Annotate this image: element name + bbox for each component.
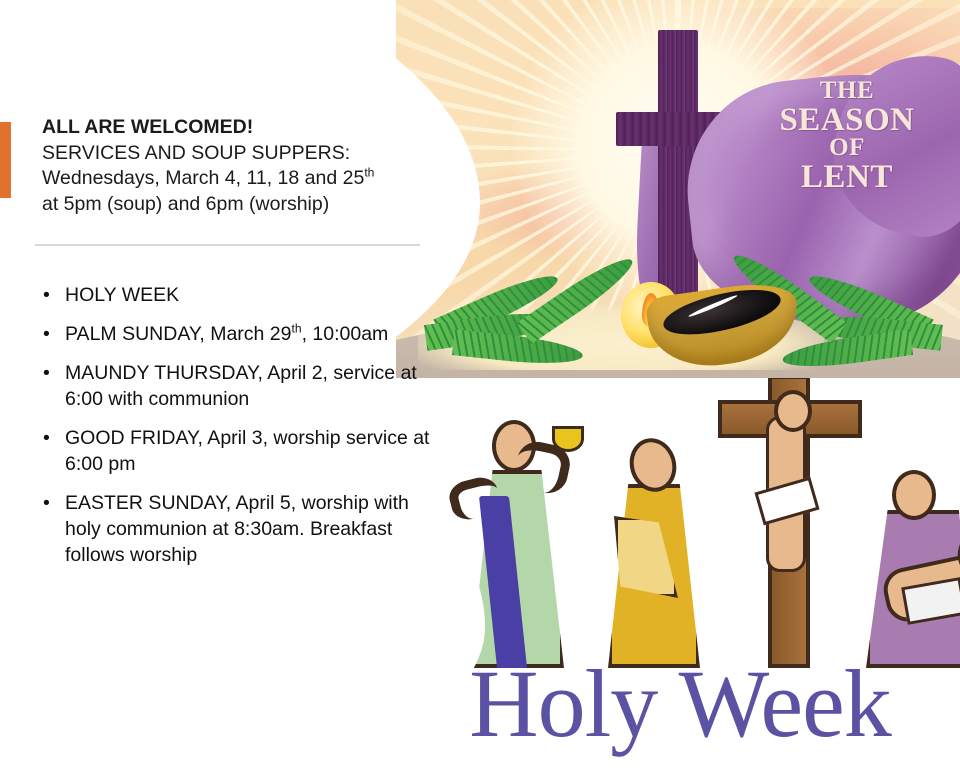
list-item-label: MAUNDY THURSDAY, April 2, service at 6:0… [65, 362, 417, 410]
bullet-marker: • [43, 282, 50, 308]
pieta-mourner-head [892, 470, 936, 520]
bowl-highlight [689, 294, 738, 319]
intro-line-services: SERVICES AND SOUP SUPPERS: [42, 141, 434, 167]
figure-pieta [852, 458, 960, 668]
text-panel: ALL ARE WELCOMED! SERVICES AND SOUP SUPP… [0, 0, 450, 768]
orange-accent-bar [0, 122, 11, 198]
lent-title-line-4: LENT [745, 161, 948, 193]
lent-title-line-1: THE [745, 79, 948, 104]
slide-root: THE SEASON OF LENT [0, 0, 960, 768]
intro-heading: ALL ARE WELCOMED! [42, 115, 434, 141]
intro-line-dates: Wednesdays, March 4, 11, 18 and 25th [42, 166, 434, 192]
palm-frond-icon [452, 329, 584, 368]
figure-praying [600, 443, 710, 668]
holy-week-image: Holy Week [400, 378, 960, 768]
figure-crucifix [718, 383, 854, 668]
bullet-marker: • [43, 321, 50, 347]
palm-sunday-prefix: PALM SUNDAY, March 29 [65, 323, 292, 345]
palm-sunday-ordinal: th [292, 322, 302, 336]
list-item-label: EASTER SUNDAY, April 5, worship with hol… [65, 492, 409, 566]
lent-title: THE SEASON OF LENT [745, 79, 948, 193]
lent-image: THE SEASON OF LENT [395, 0, 960, 378]
lent-title-line-3: OF [745, 136, 948, 161]
list-item-label: HOLY WEEK [65, 284, 179, 306]
intro-block: ALL ARE WELCOMED! SERVICES AND SOUP SUPP… [42, 115, 434, 217]
lent-title-line-2: SEASON [745, 104, 948, 136]
list-item: • EASTER SUNDAY, April 5, worship with h… [35, 490, 435, 568]
bullet-marker: • [43, 425, 50, 451]
schedule-list: • HOLY WEEK • PALM SUNDAY, March 29th, 1… [35, 282, 435, 581]
list-item-label: PALM SUNDAY, March 29th, 10:00am [65, 323, 388, 345]
holy-week-title: Holy Week [400, 656, 960, 752]
intro-line-times: at 5pm (soup) and 6pm (worship) [42, 192, 434, 218]
intro-dates-text: Wednesdays, March 4, 11, 18 and 25 [42, 167, 364, 189]
intro-dates-ordinal: th [364, 166, 374, 180]
palm-sunday-suffix: , 10:00am [302, 323, 389, 345]
list-item: • PALM SUNDAY, March 29th, 10:00am [35, 321, 435, 347]
list-item: • GOOD FRIDAY, April 3, worship service … [35, 425, 435, 477]
section-divider [35, 244, 420, 246]
bullet-marker: • [43, 360, 50, 386]
chalice-icon [552, 426, 584, 452]
christ-head [774, 390, 812, 432]
list-item: • HOLY WEEK [35, 282, 435, 308]
bullet-marker: • [43, 490, 50, 516]
list-item-label: GOOD FRIDAY, April 3, worship service at… [65, 427, 429, 475]
list-item: • MAUNDY THURSDAY, April 2, service at 6… [35, 360, 435, 412]
